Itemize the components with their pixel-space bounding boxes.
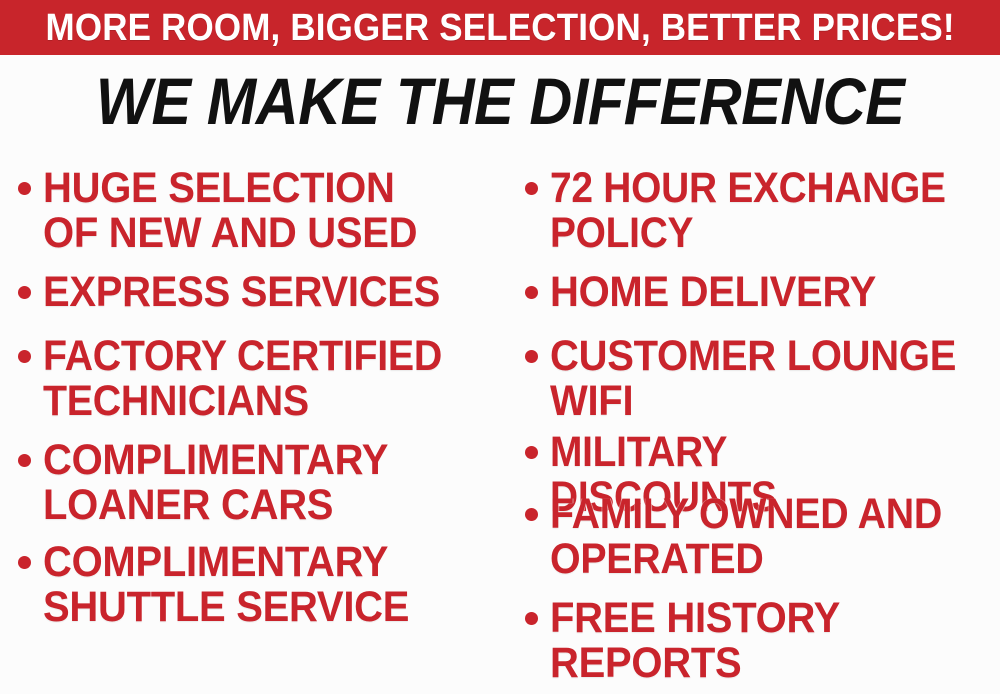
list-item-label: HUGE SELECTION OF NEW AND USED: [43, 166, 471, 256]
bullet-dot-icon: [18, 556, 31, 569]
list-item: FACTORY CERTIFIED TECHNICIANS: [18, 334, 503, 424]
bullet-dot-icon: [18, 182, 31, 195]
list-item: COMPLIMENTARY LOANER CARS: [18, 438, 503, 528]
bullet-dot-icon: [18, 286, 31, 299]
bullet-dot-icon: [18, 454, 31, 467]
bullet-dot-icon: [525, 508, 538, 521]
list-item-label: COMPLIMENTARY SHUTTLE SERVICE: [43, 540, 471, 630]
list-item: 72 HOUR EXCHANGE POLICY: [525, 166, 1000, 256]
list-item-label: EXPRESS SERVICES: [43, 270, 471, 315]
bullet-dot-icon: [525, 446, 538, 459]
top-banner: MORE ROOM, BIGGER SELECTION, BETTER PRIC…: [0, 0, 1000, 55]
list-item-label: COMPLIMENTARY LOANER CARS: [43, 438, 471, 528]
list-item-label: HOME DELIVERY: [550, 270, 969, 315]
list-item: EXPRESS SERVICES: [18, 270, 503, 315]
list-item-label: FAMILY OWNED AND OPERATED: [550, 492, 962, 582]
page-title: WE MAKE THE DIFFERENCE: [96, 68, 905, 134]
benefits-column-right: 72 HOUR EXCHANGE POLICY HOME DELIVERY CU…: [505, 158, 1000, 694]
bullet-dot-icon: [525, 182, 538, 195]
list-item: CUSTOMER LOUNGE WIFI: [525, 334, 1000, 424]
banner-headline: MORE ROOM, BIGGER SELECTION, BETTER PRIC…: [45, 9, 954, 47]
headline-container: WE MAKE THE DIFFERENCE: [0, 68, 1000, 134]
bullet-dot-icon: [525, 350, 538, 363]
list-item: COMPLIMENTARY SHUTTLE SERVICE: [18, 540, 503, 630]
bullet-dot-icon: [18, 350, 31, 363]
bullet-dot-icon: [525, 612, 538, 625]
list-item: HOME DELIVERY: [525, 270, 1000, 315]
list-item: FAMILY OWNED AND OPERATED: [525, 492, 1000, 582]
list-item: HUGE SELECTION OF NEW AND USED: [18, 166, 503, 256]
list-item-label: FACTORY CERTIFIED TECHNICIANS: [43, 334, 464, 424]
bullet-dot-icon: [525, 286, 538, 299]
list-item-label: FREE HISTORY REPORTS: [550, 596, 969, 686]
benefits-columns: HUGE SELECTION OF NEW AND USED EXPRESS S…: [0, 158, 1000, 694]
list-item-label: CUSTOMER LOUNGE WIFI: [550, 334, 969, 424]
list-item-label: 72 HOUR EXCHANGE POLICY: [550, 166, 957, 256]
promotional-poster: MORE ROOM, BIGGER SELECTION, BETTER PRIC…: [0, 0, 1000, 694]
benefits-column-left: HUGE SELECTION OF NEW AND USED EXPRESS S…: [0, 158, 505, 694]
list-item: FREE HISTORY REPORTS: [525, 596, 1000, 686]
